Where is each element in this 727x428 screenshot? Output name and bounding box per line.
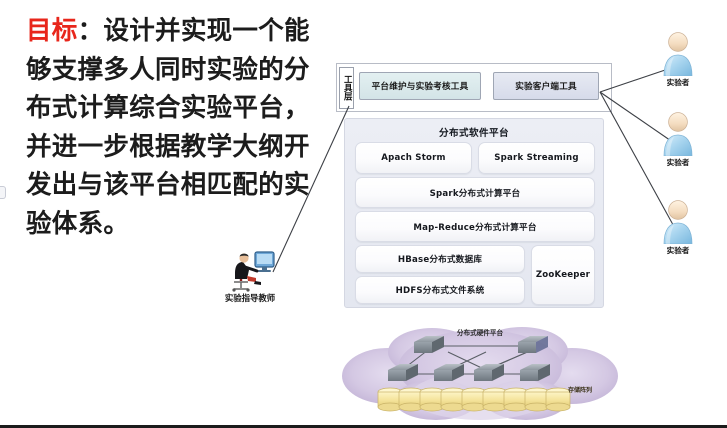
tool-button-experiment-client[interactable]: 实验客户端工具 xyxy=(493,72,599,100)
storage-array xyxy=(378,388,570,411)
tool-button-platform-maintenance[interactable]: 平台维护与实验考核工具 xyxy=(359,72,481,100)
actor-teacher: 实验指导教师 xyxy=(204,248,296,304)
teacher-label: 实验指导教师 xyxy=(204,292,296,304)
sw-box-hbase[interactable]: HBase分布式数据库 xyxy=(355,245,525,273)
experimenter-icon xyxy=(658,198,698,244)
sw-box-apach-storm[interactable]: Apach Storm xyxy=(355,142,472,174)
sw-box-hdfs[interactable]: HDFS分布式文件系统 xyxy=(355,276,525,304)
tool-layer-container: 工具层 平台维护与实验考核工具 实验客户端工具 xyxy=(336,63,612,112)
experimenter-icon xyxy=(658,110,698,156)
sw-box-zookeeper[interactable]: ZooKeeper xyxy=(531,245,595,305)
goal-colon: ： xyxy=(78,16,104,46)
goal-body: 设计并实现一个能够支撑多人同时实验的分布式计算综合实验平台，并进一步根据教学大纲… xyxy=(26,16,310,239)
hardware-platform-label: 分布式硬件平台 xyxy=(336,327,624,337)
sw-box-map-reduce-platform[interactable]: Map-Reduce分布式计算平台 xyxy=(355,211,595,242)
actor-experimenter-3: 实验者 xyxy=(655,198,701,256)
sw-box-spark-platform[interactable]: Spark分布式计算平台 xyxy=(355,177,595,208)
tool-layer-label: 工具层 xyxy=(339,67,354,109)
software-platform-panel: 分布式软件平台 Apach Storm Spark Streaming Spar… xyxy=(344,118,604,308)
hardware-platform-cloud: 分布式硬件平台 存储阵列 xyxy=(336,318,624,426)
left-edge-marker xyxy=(0,186,6,199)
slide-canvas: 目标：设计并实现一个能够支撑多人同时实验的分布式计算综合实验平台，并进一步根据教… xyxy=(0,0,727,428)
teacher-icon xyxy=(223,248,277,292)
goal-keyword: 目标 xyxy=(26,16,78,46)
storage-array-label: 存储阵列 xyxy=(568,385,592,394)
software-platform-title: 分布式软件平台 xyxy=(345,125,603,139)
goal-text-block: 目标：设计并实现一个能够支撑多人同时实验的分布式计算综合实验平台，并进一步根据教… xyxy=(26,12,311,243)
architecture-diagram: 工具层 平台维护与实验考核工具 实验客户端工具 分布式软件平台 Apach St… xyxy=(336,63,616,323)
experimenter-label-3: 实验者 xyxy=(655,245,701,256)
experimenter-icon xyxy=(658,30,698,76)
actor-experimenter-2: 实验者 xyxy=(655,110,701,168)
sw-box-spark-streaming[interactable]: Spark Streaming xyxy=(478,142,595,174)
experimenter-label-1: 实验者 xyxy=(655,77,701,88)
actor-experimenter-1: 实验者 xyxy=(655,30,701,88)
experimenter-label-2: 实验者 xyxy=(655,157,701,168)
